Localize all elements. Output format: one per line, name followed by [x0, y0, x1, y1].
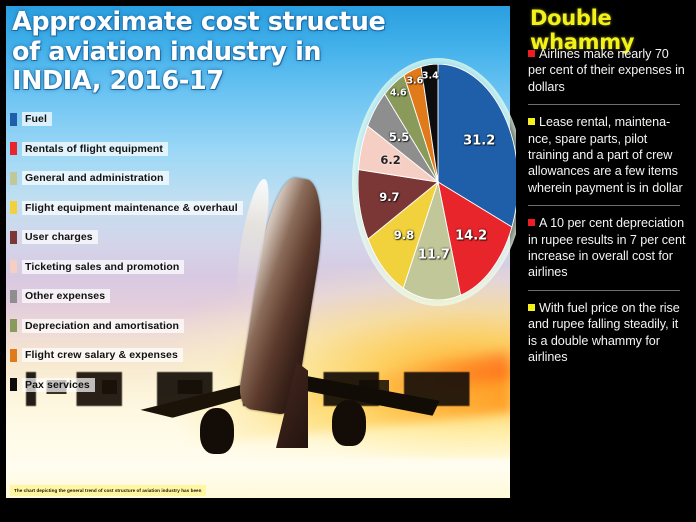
bullet-marker-icon: [528, 219, 535, 226]
pie-slice-label: 9.7: [379, 190, 399, 204]
legend-item: Ticketing sales and promotion: [10, 260, 310, 274]
sidebar-bullet-text: A 10 per cent depreciation in rupee resu…: [528, 215, 688, 281]
legend-item: User charges: [10, 230, 310, 244]
sidebar-bullet: A 10 per cent depreciation in rupee resu…: [528, 215, 688, 281]
bullet-divider: [528, 205, 680, 206]
bullet-divider: [528, 290, 680, 291]
legend-item-label: Ticketing sales and promotion: [22, 260, 184, 274]
sidebar-bullet-text: With fuel price on the rise and rupee fa…: [528, 300, 688, 366]
pie-slice-label: 11.7: [418, 247, 450, 262]
legend-item: General and administration: [10, 171, 310, 185]
sidebar-panel: Double whammy Airlines make nearly 70 pe…: [516, 0, 696, 522]
legend-item: Flight crew salary & expenses: [10, 348, 310, 362]
pie-slice-label: 3.6: [406, 76, 423, 87]
legend-swatch: [10, 201, 17, 214]
legend-item-label: Fuel: [22, 112, 52, 126]
legend-item: Depreciation and amortisation: [10, 319, 310, 333]
sidebar-bullet: With fuel price on the rise and rupee fa…: [528, 300, 688, 366]
legend-swatch: [10, 113, 17, 126]
chart-footnote: The chart depicting the general trend of…: [10, 485, 206, 496]
sidebar-bullet-text: Lease rental, maintena-nce, spare parts,…: [528, 114, 688, 196]
legend-item-label: General and administration: [22, 171, 169, 185]
pie-chart-svg: [358, 64, 516, 300]
legend-swatch: [10, 378, 17, 391]
bullet-marker-icon: [528, 304, 535, 311]
legend-item-label: Flight crew salary & expenses: [22, 348, 183, 362]
left-panel: Approximate cost structue of aviation in…: [0, 0, 516, 522]
legend-item-label: Pax services: [22, 378, 95, 392]
sidebar-bullet-label: A 10 per cent depreciation in rupee resu…: [528, 216, 685, 279]
legend-item-label: Rentals of flight equipment: [22, 142, 168, 156]
legend-swatch: [10, 231, 17, 244]
legend-item-label: Flight equipment maintenance & overhaul: [22, 201, 243, 215]
pie-chart-slices: [358, 64, 516, 300]
legend-swatch: [10, 290, 17, 303]
legend-item: Pax services: [10, 378, 310, 392]
bullet-marker-icon: [528, 50, 535, 57]
sidebar-bullet-label: With fuel price on the rise and rupee fa…: [528, 301, 680, 364]
airplane-left-engine: [200, 408, 234, 454]
sidebar-bullet: Lease rental, maintena-nce, spare parts,…: [528, 114, 688, 196]
page-title: Approximate cost structue of aviation in…: [12, 8, 404, 97]
sidebar-bullet-label: Airlines make nearly 70 per cent of thei…: [528, 47, 685, 94]
legend-item-label: User charges: [22, 230, 98, 244]
sidebar-bullet-label: Lease rental, maintena-nce, spare parts,…: [528, 115, 683, 195]
pie-slice-label: 3.4: [422, 71, 439, 82]
pie-chart: 31.214.211.79.89.76.25.54.63.63.4: [352, 58, 516, 306]
chart-legend: FuelRentals of flight equipmentGeneral a…: [10, 112, 310, 407]
pie-slice-label: 31.2: [463, 134, 495, 149]
legend-swatch: [10, 260, 17, 273]
legend-item: Flight equipment maintenance & overhaul: [10, 201, 310, 215]
pie-slice-label: 14.2: [455, 229, 487, 244]
legend-swatch: [10, 142, 17, 155]
legend-item: Other expenses: [10, 289, 310, 303]
legend-swatch: [10, 172, 17, 185]
legend-swatch: [10, 349, 17, 362]
sidebar-bullet: Airlines make nearly 70 per cent of thei…: [528, 46, 688, 95]
infographic-root: Approximate cost structue of aviation in…: [0, 0, 696, 522]
pie-slice-label: 9.8: [394, 228, 414, 242]
legend-swatch: [10, 319, 17, 332]
pie-slice-label: 6.2: [380, 153, 400, 167]
legend-item: Fuel: [10, 112, 310, 126]
bullet-marker-icon: [528, 118, 535, 125]
sidebar-bullet-list: Airlines make nearly 70 per cent of thei…: [528, 46, 688, 375]
legend-item: Rentals of flight equipment: [10, 142, 310, 156]
pie-slice-label: 4.6: [390, 88, 407, 99]
legend-item-label: Other expenses: [22, 289, 110, 303]
bullet-divider: [528, 104, 680, 105]
sidebar-bullet-text: Airlines make nearly 70 per cent of thei…: [528, 46, 688, 95]
legend-item-label: Depreciation and amortisation: [22, 319, 184, 333]
airplane-right-engine: [332, 400, 366, 446]
pie-slice-label: 5.5: [389, 130, 409, 144]
